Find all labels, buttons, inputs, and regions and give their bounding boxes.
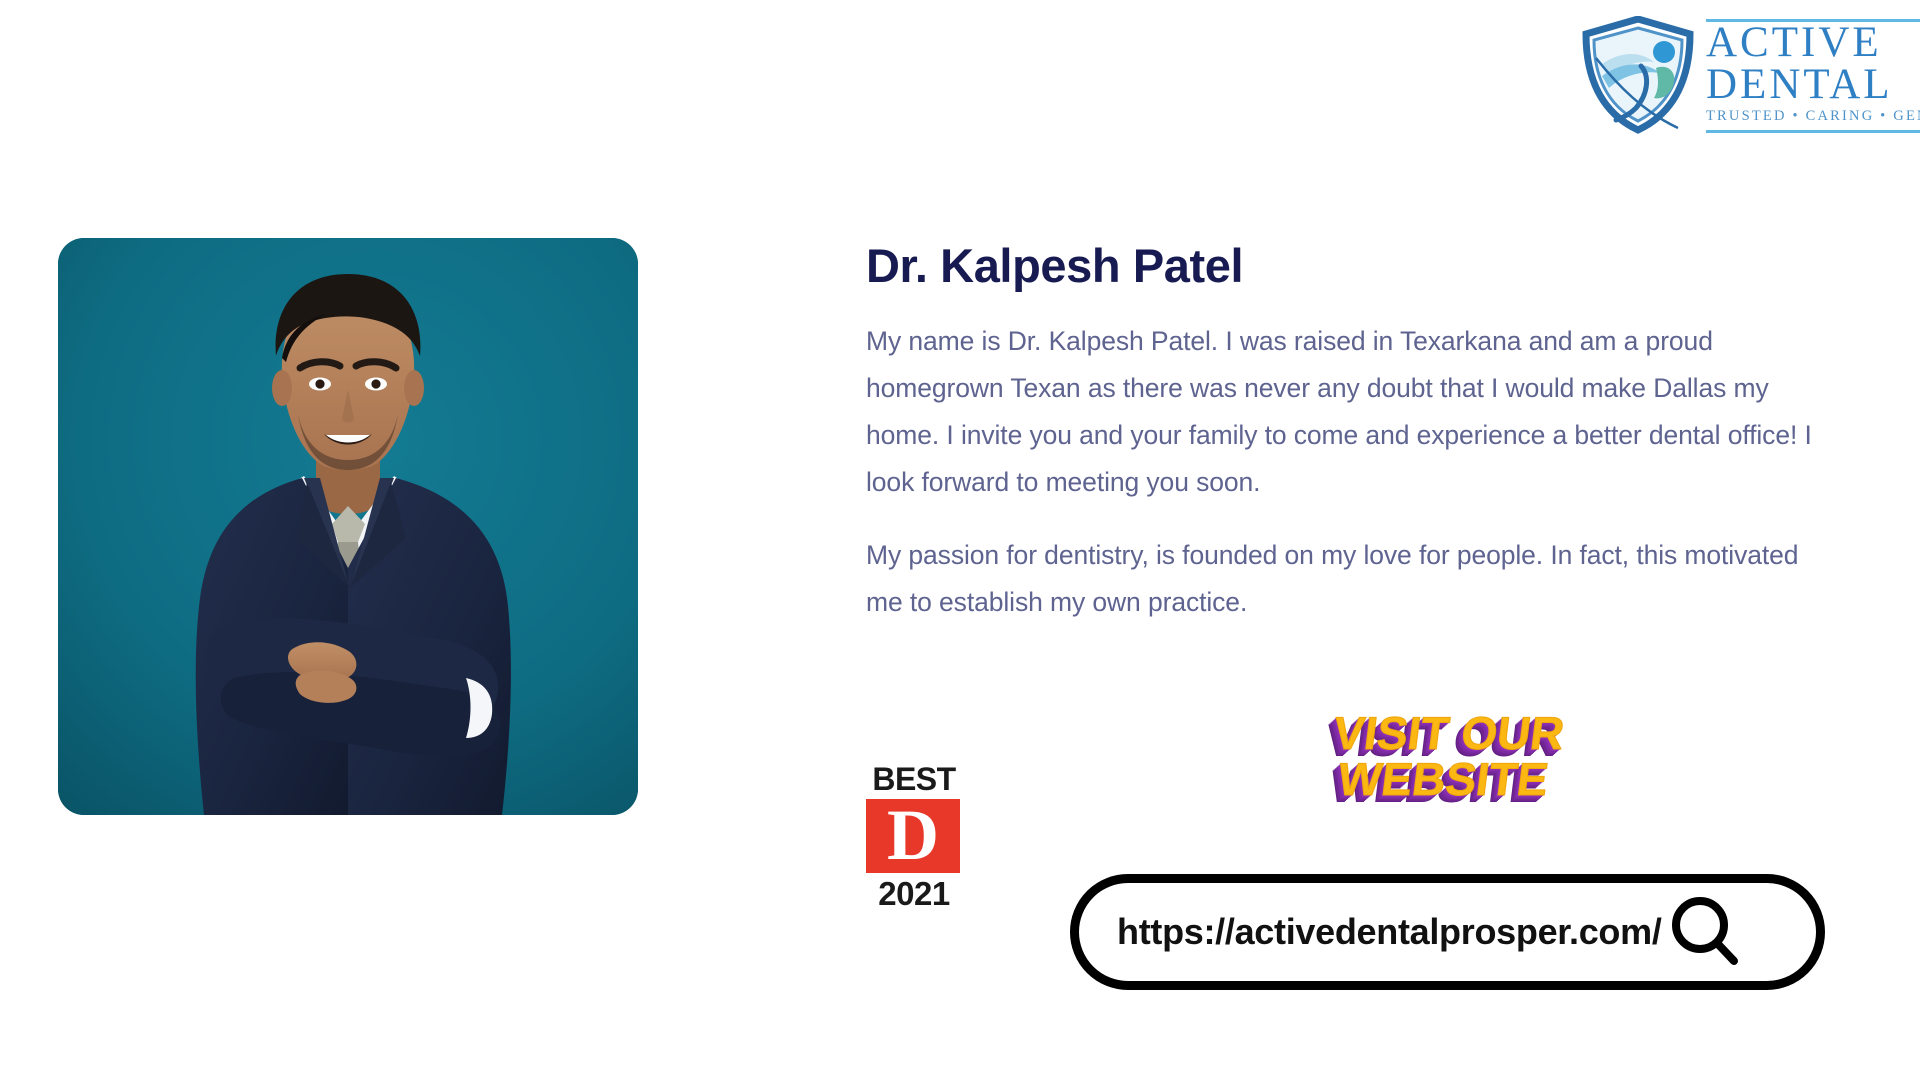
best-d-label: BEST [866, 763, 962, 795]
website-url-bar[interactable]: https://activedentalprosper.com/ [1070, 874, 1825, 990]
visit-cta-line-2: WEBSITE [1291, 758, 1596, 802]
bio-paragraph-2: My passion for dentistry, is founded on … [866, 532, 1826, 626]
brand-line-dental: DENTAL [1706, 64, 1920, 106]
active-dental-shield-logo-icon [1578, 16, 1698, 134]
brand-line-active: ACTIVE [1706, 22, 1920, 64]
bio-paragraph-1: My name is Dr. Kalpesh Patel. I was rais… [866, 318, 1826, 507]
best-d-2021-award-badge: BEST D 2021 [866, 763, 962, 910]
visit-our-website-callout: VISIT OUR WEBSITE [1291, 712, 1602, 801]
best-d-year: 2021 [866, 877, 962, 910]
doctor-portrait-photo [58, 238, 638, 815]
brand-rule-bottom [1706, 130, 1920, 133]
visit-cta-line-1: VISIT OUR [1296, 712, 1601, 756]
magnifier-icon[interactable] [1664, 891, 1746, 973]
best-d-red-square: D [866, 799, 960, 873]
best-d-letter: D [887, 806, 939, 865]
brand-logo: ACTIVE DENTAL TRUSTED • CARING • GENTLE [1578, 14, 1920, 136]
doctor-bio-section: Dr. Kalpesh Patel My name is Dr. Kalpesh… [866, 240, 1826, 649]
brand-wordmark: ACTIVE DENTAL TRUSTED • CARING • GENTLE [1706, 17, 1920, 132]
website-url-text: https://activedentalprosper.com/ [1117, 911, 1662, 953]
page-title: Dr. Kalpesh Patel [866, 240, 1826, 292]
brand-tagline: TRUSTED • CARING • GENTLE [1706, 108, 1920, 125]
